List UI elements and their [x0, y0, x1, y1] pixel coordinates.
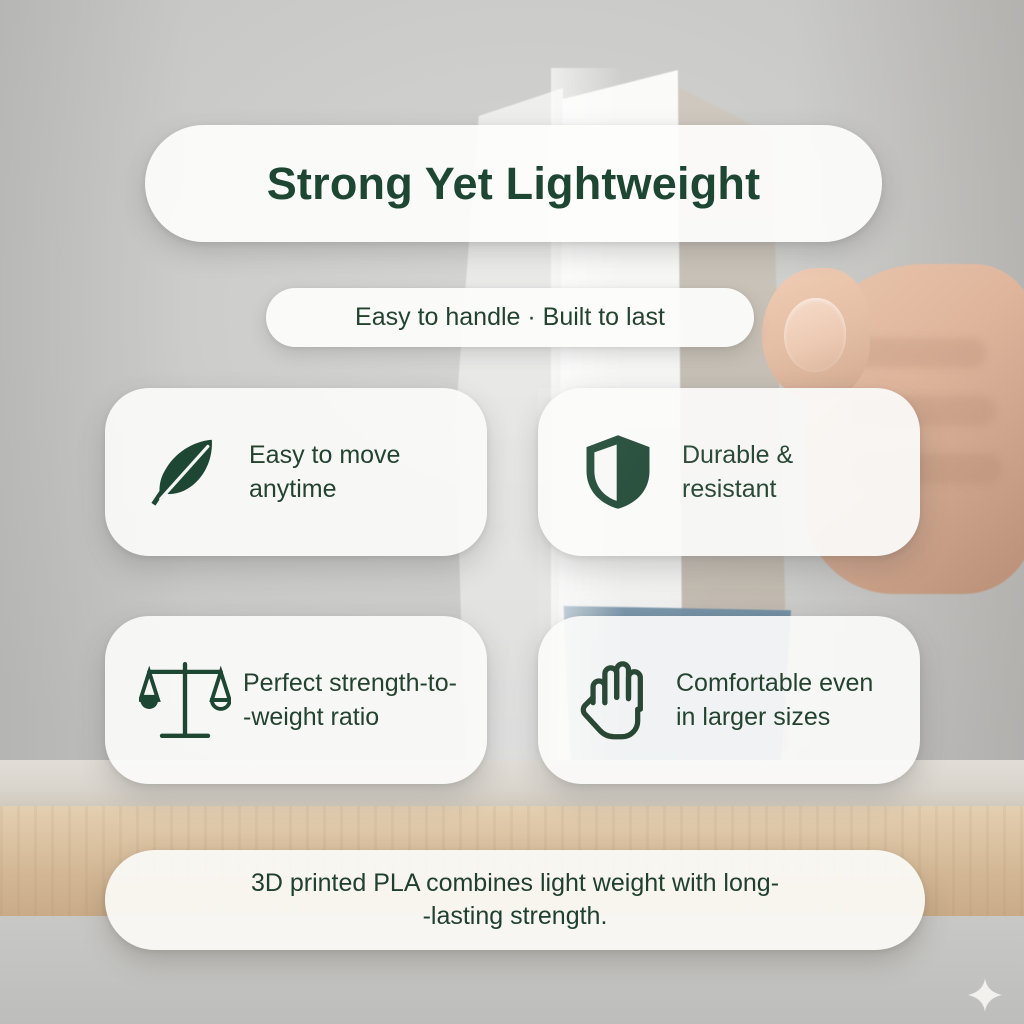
- feather-icon: [139, 426, 231, 518]
- feature-card-easy-to-move[interactable]: Easy to move anytime: [105, 388, 487, 556]
- page-subtitle: Easy to handle · Built to last: [355, 303, 665, 332]
- thumbnail: [784, 298, 846, 372]
- hand-icon: [572, 654, 664, 746]
- sparkle-icon: [968, 978, 1002, 1012]
- feature-card-strength-ratio[interactable]: Perfect strength-to- -weight ratio: [105, 616, 487, 784]
- feature-label-line1: Easy to move: [249, 441, 400, 469]
- feature-label-line2: anytime: [249, 475, 337, 503]
- feature-card-label: Easy to move anytime: [249, 438, 400, 506]
- feature-label-line2: in larger sizes: [676, 703, 830, 731]
- title-pill: Strong Yet Lightweight: [145, 125, 882, 242]
- feature-card-comfortable[interactable]: Comfortable even in larger sizes: [538, 616, 920, 784]
- scales-icon: [139, 654, 231, 746]
- feature-card-label: Perfect strength-to- -weight ratio: [243, 666, 457, 734]
- feature-label-line1: Comfortable even: [676, 669, 873, 697]
- shield-icon: [572, 426, 664, 518]
- thumb: [762, 268, 870, 400]
- feature-card-label: Durable & resistant: [682, 438, 793, 506]
- caption-line2: -lasting strength.: [423, 900, 608, 933]
- caption-line1: 3D printed PLA combines light weight wit…: [251, 867, 779, 900]
- feature-card-label: Comfortable even in larger sizes: [676, 666, 873, 734]
- feature-card-durable[interactable]: Durable & resistant: [538, 388, 920, 556]
- page-title: Strong Yet Lightweight: [267, 158, 761, 210]
- promo-graphic: Strong Yet Lightweight Easy to handle · …: [0, 0, 1024, 1024]
- feature-label-line1: Durable &: [682, 441, 793, 469]
- feature-label-line2: -weight ratio: [243, 703, 379, 731]
- subtitle-pill: Easy to handle · Built to last: [266, 288, 754, 347]
- caption-pill: 3D printed PLA combines light weight wit…: [105, 850, 925, 950]
- feature-label-line2: resistant: [682, 475, 776, 503]
- feature-label-line1: Perfect strength-to-: [243, 669, 457, 697]
